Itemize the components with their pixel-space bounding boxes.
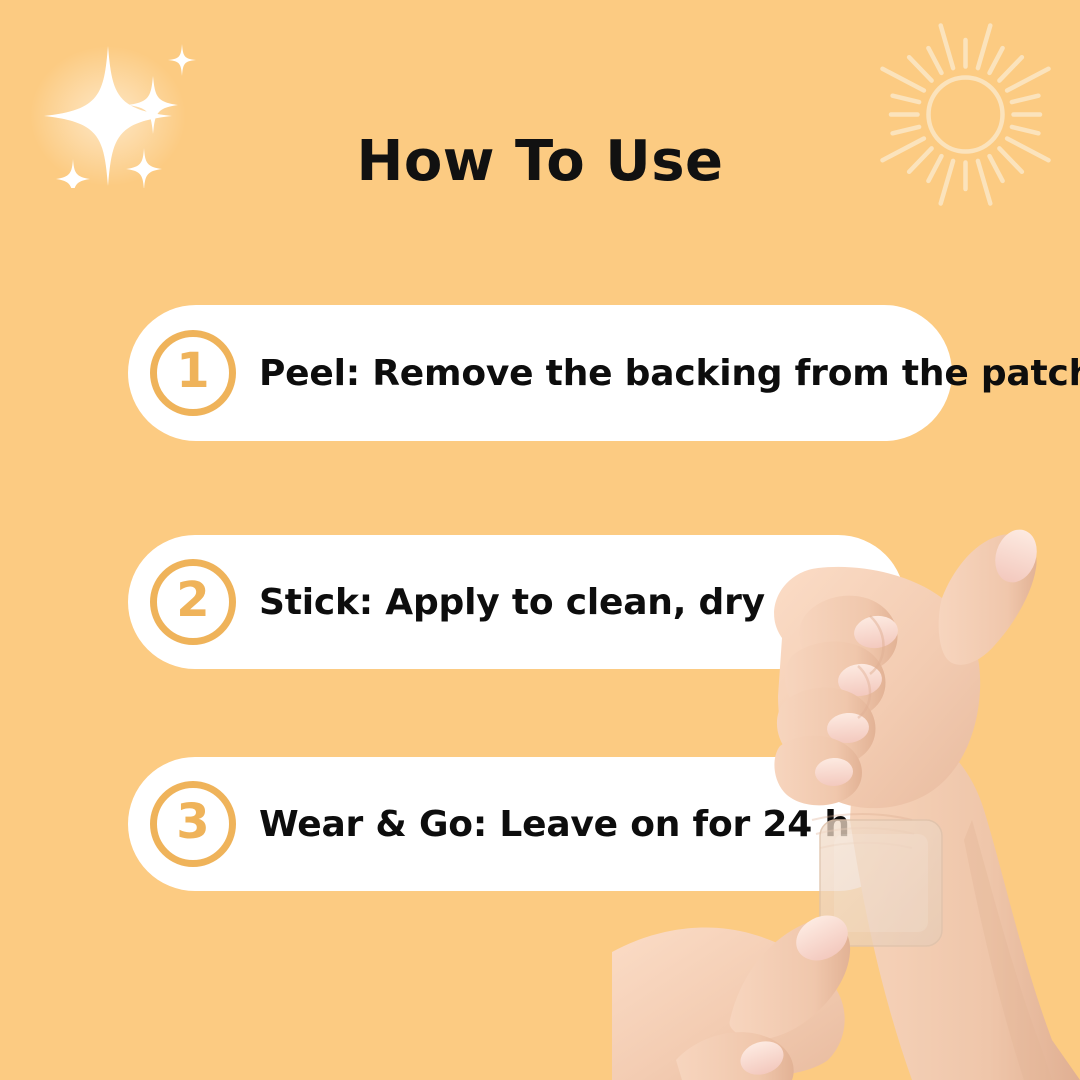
step-card-3: 3 Wear & Go: Leave on for 24 hours	[128, 757, 905, 891]
step-text-1: Peel: Remove the backing from the patch	[259, 353, 1080, 394]
step-text-2: Stick: Apply to clean, dry skin	[259, 582, 860, 623]
step-number-badge-2: 2	[150, 559, 236, 645]
step-number-1: 1	[176, 347, 209, 395]
step-number-badge-1: 1	[150, 330, 236, 416]
step-card-2: 2 Stick: Apply to clean, dry skin	[128, 535, 905, 669]
pressing-hand	[612, 907, 856, 1080]
page-title: How To Use	[0, 134, 1080, 190]
step-number-badge-3: 3	[150, 781, 236, 867]
how-to-use-poster: How To Use 1 Peel: Remove the backing fr…	[0, 0, 1080, 1080]
step-card-1: 1 Peel: Remove the backing from the patc…	[128, 305, 952, 441]
forearm	[850, 719, 1080, 1080]
step-text-3: Wear & Go: Leave on for 24 hours	[259, 804, 939, 845]
step-number-3: 3	[176, 798, 209, 846]
step-number-2: 2	[176, 576, 209, 624]
